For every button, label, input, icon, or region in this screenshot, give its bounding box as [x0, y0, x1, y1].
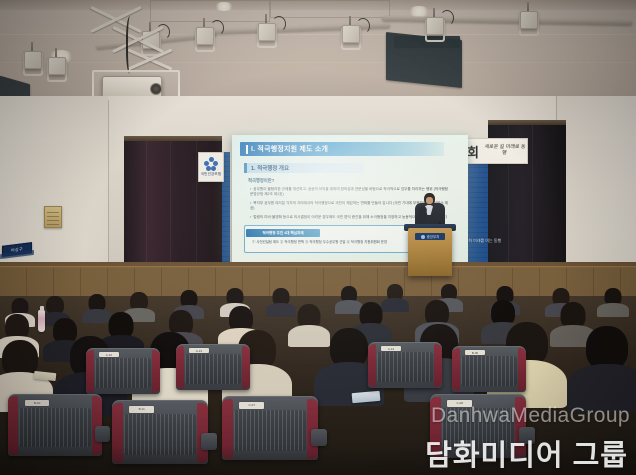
projector-lens-icon	[150, 83, 162, 95]
audience-person	[600, 288, 626, 314]
seat-number-tag: A-12	[99, 352, 118, 357]
seat-armrest	[95, 426, 110, 442]
watermark-latin: DanhwaMediaGroup	[431, 404, 630, 428]
slide-lead-text: 적극행정이란?	[248, 178, 274, 184]
ceiling-tile	[270, 0, 390, 18]
calligraphy-char: 회	[467, 142, 479, 161]
bullet-marker-icon: ▪	[250, 201, 251, 205]
auditorium-seat[interactable]: A-13	[176, 344, 250, 390]
photo-scene: 국민건강보험 회 새로운 길 미래로 동행 함께하는 변화 미래를 여는 동행 …	[0, 0, 636, 475]
water-bottle	[38, 310, 45, 332]
wall-sign-logo: 국민건강보험	[198, 152, 224, 182]
seat-number-tag: A-13	[189, 348, 208, 353]
curtain-rail	[124, 136, 222, 141]
wall-plaque	[44, 206, 62, 228]
ceiling	[0, 0, 636, 104]
slide-callout-label: 적극행정 추진 4대 핵심과제	[246, 229, 320, 237]
audience-person	[268, 288, 294, 314]
calligraphy-brush-text: 새로운 길 미래로 동행	[481, 145, 527, 157]
projector-lift	[86, 12, 186, 108]
seat-number-tag: B-11	[129, 406, 154, 413]
lighting-truss	[382, 16, 632, 25]
podium-logo-icon	[421, 235, 425, 239]
wall-sign-caption: 국민건강보험	[201, 172, 222, 177]
seat-armrest	[311, 429, 326, 446]
seat-number-tag: C-07	[239, 402, 264, 409]
slide-title: I. 적극행정지원 제도 소개	[240, 142, 444, 156]
curtain-rail	[488, 120, 566, 125]
podium-nameplate: 중앙부처	[415, 233, 445, 240]
seat-number-tag: A-14	[381, 346, 400, 351]
bullet-marker-icon: ▪	[250, 187, 251, 191]
audience-person	[578, 326, 636, 404]
bullet-marker-icon: ▪	[250, 215, 251, 219]
audience-person	[292, 304, 326, 344]
seat-number-tag: B-10	[25, 400, 49, 407]
auditorium-seat[interactable]: B-09	[452, 346, 526, 392]
calligraphy-plaque: 회 새로운 길 미래로 동행	[466, 138, 528, 164]
slide-bullet: ▪공무원이 불합리한 규제를 개선하고, 공공의 이익을 위하여 창의성과 전문…	[250, 187, 452, 197]
slide-subtitle: 1. 적극행정 개요	[244, 163, 364, 173]
slide-title-accent-bar	[246, 145, 248, 154]
slide-title-text: I. 적극행정지원 제도 소개	[251, 144, 328, 154]
recessed-light-icon	[214, 2, 234, 11]
speaker-face	[426, 197, 433, 204]
bullet-text: 공무원이 불합리한 규제를 개선하고, 공공의 이익을 위하여 창의성과 전문성…	[250, 187, 448, 196]
seat-number-tag: B-09	[465, 350, 484, 355]
watermark-korean: 담화미디어 그룹	[425, 432, 628, 474]
podium-plate-text: 중앙부처	[427, 234, 439, 239]
flower-logo-icon	[204, 157, 218, 171]
auditorium-seat[interactable]: A-12	[86, 348, 160, 394]
ceiling-acoustic-panel	[386, 32, 462, 88]
auditorium-seat[interactable]: A-14	[368, 342, 442, 388]
